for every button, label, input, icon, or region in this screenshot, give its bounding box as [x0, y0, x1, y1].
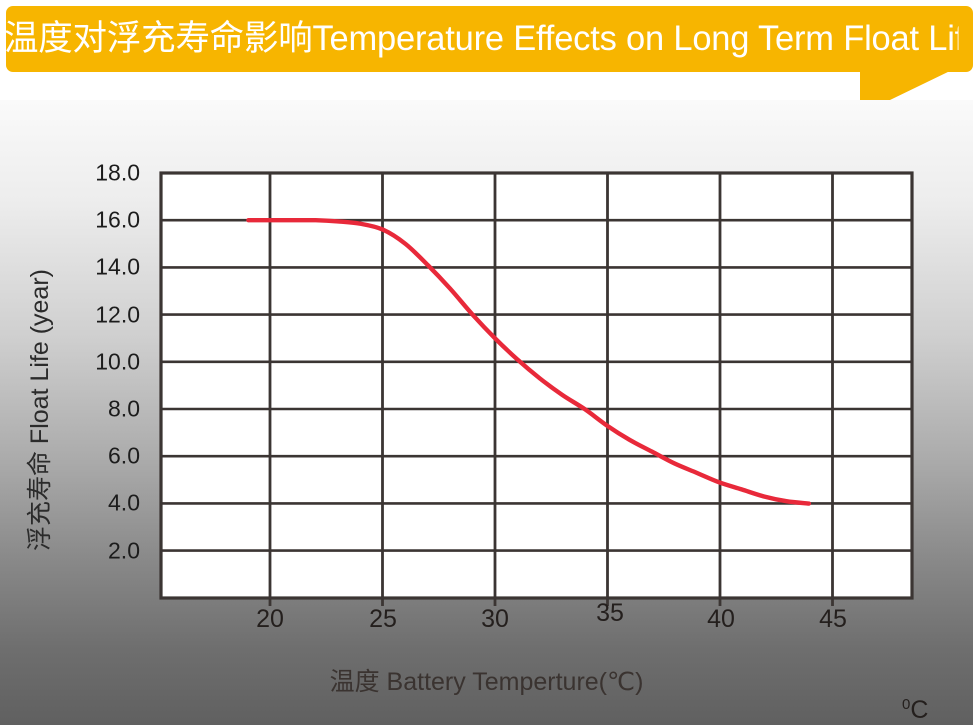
- x-tick-label: 40: [686, 605, 756, 634]
- x-tick-label: 45: [798, 605, 868, 634]
- x-tick-label: 20: [235, 605, 305, 634]
- y-tick-label: 16.0: [68, 207, 140, 234]
- y-tick-label: 14.0: [68, 254, 140, 281]
- x-tick-label: 30: [460, 605, 530, 634]
- page-title: 温度对浮充寿命影响Temperature Effects on Long Ter…: [4, 11, 958, 67]
- y-tick-label: 12.0: [68, 302, 140, 329]
- y-tick-label: 18.0: [68, 160, 140, 187]
- x-axis-unit-label: 0C: [902, 696, 928, 725]
- celsius-letter: C: [910, 696, 928, 724]
- banner-tail-pointer: [860, 70, 952, 100]
- x-tick-label: 35: [575, 599, 645, 628]
- x-tick-label: 25: [348, 605, 418, 634]
- plot-background: [161, 173, 912, 598]
- y-tick-label: 2.0: [68, 538, 140, 565]
- y-tick-label: 4.0: [68, 490, 140, 517]
- chart-panel: 浮充寿命 Float Life (year): [0, 100, 973, 725]
- x-axis-title: 温度 Battery Temperture(℃): [0, 662, 973, 698]
- y-tick-label: 8.0: [68, 396, 140, 423]
- y-tick-label: 10.0: [68, 349, 140, 376]
- chart-page: 温度对浮充寿命影响Temperature Effects on Long Ter…: [0, 0, 973, 725]
- y-tick-label: 6.0: [68, 443, 140, 470]
- title-banner: 温度对浮充寿命影响Temperature Effects on Long Ter…: [0, 0, 973, 100]
